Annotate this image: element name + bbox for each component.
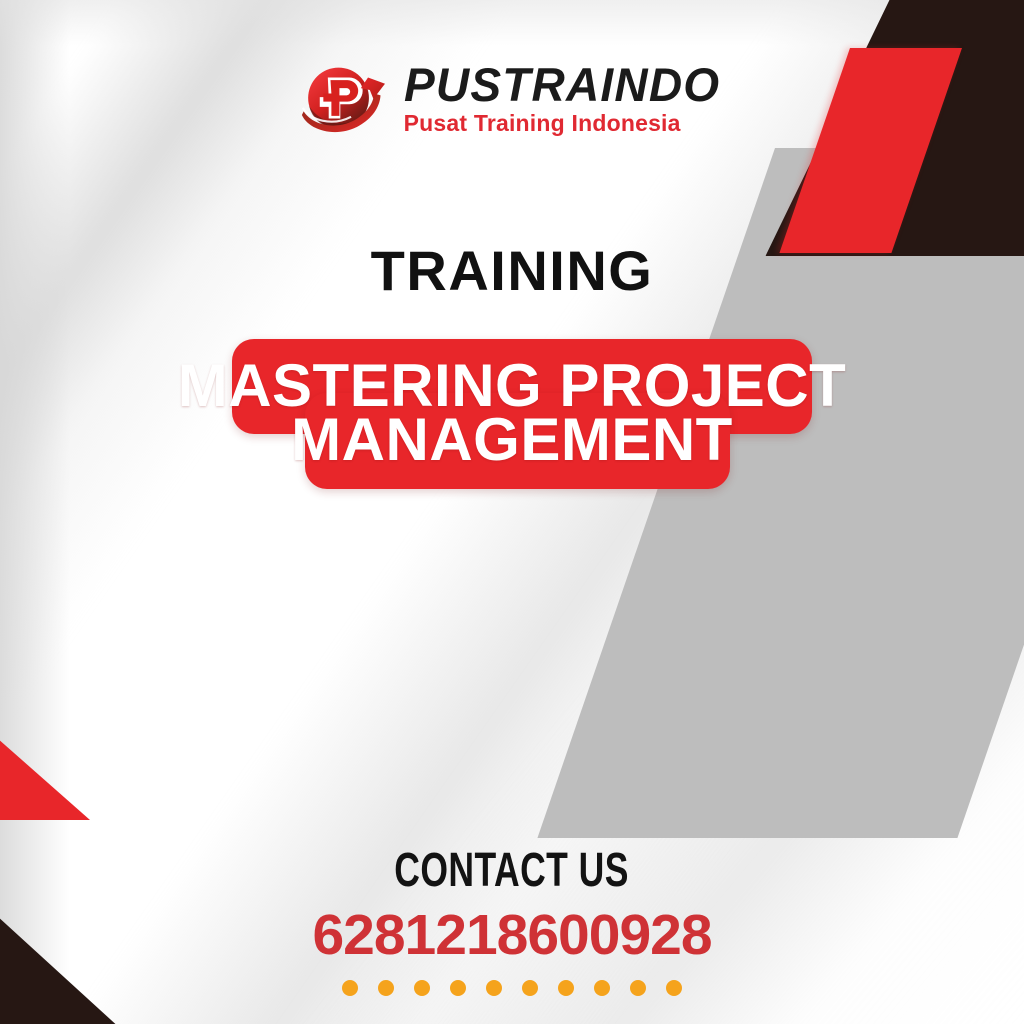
dot-7	[558, 980, 574, 996]
background-top-edge-shade	[0, 0, 1024, 46]
brand-name: PUSTRAINDO	[404, 61, 720, 108]
training-flyer-poster: PUSTRAINDO Pusat Training Indonesia TRAI…	[0, 0, 1024, 1024]
dot-10	[666, 980, 682, 996]
decorative-dot-row	[0, 980, 1024, 996]
dot-8	[594, 980, 610, 996]
headline-line-2: MANAGEMENT	[0, 405, 1024, 474]
brand-wordmark: PUSTRAINDO Pusat Training Indonesia	[404, 61, 727, 135]
brand-tagline: Pusat Training Indonesia	[404, 112, 727, 135]
contact-phone-number[interactable]: 6281218600928	[0, 902, 1024, 968]
dot-3	[414, 980, 430, 996]
pustraindo-globe-p-arrow-logo	[298, 56, 388, 140]
contact-title-wrap: CONTACT US	[0, 843, 1024, 898]
dot-1	[342, 980, 358, 996]
contact-block: CONTACT US 6281218600928	[0, 843, 1024, 996]
headline-banner: MASTERING PROJECT MANAGEMENT	[0, 339, 1024, 489]
brand-logo-lockup: PUSTRAINDO Pusat Training Indonesia	[0, 56, 1024, 140]
page-eyebrow-training: TRAINING	[0, 238, 1024, 303]
dot-2	[378, 980, 394, 996]
contact-title: CONTACT US	[395, 843, 630, 898]
dot-9	[630, 980, 646, 996]
dot-4	[450, 980, 466, 996]
dot-6	[522, 980, 538, 996]
dot-5	[486, 980, 502, 996]
